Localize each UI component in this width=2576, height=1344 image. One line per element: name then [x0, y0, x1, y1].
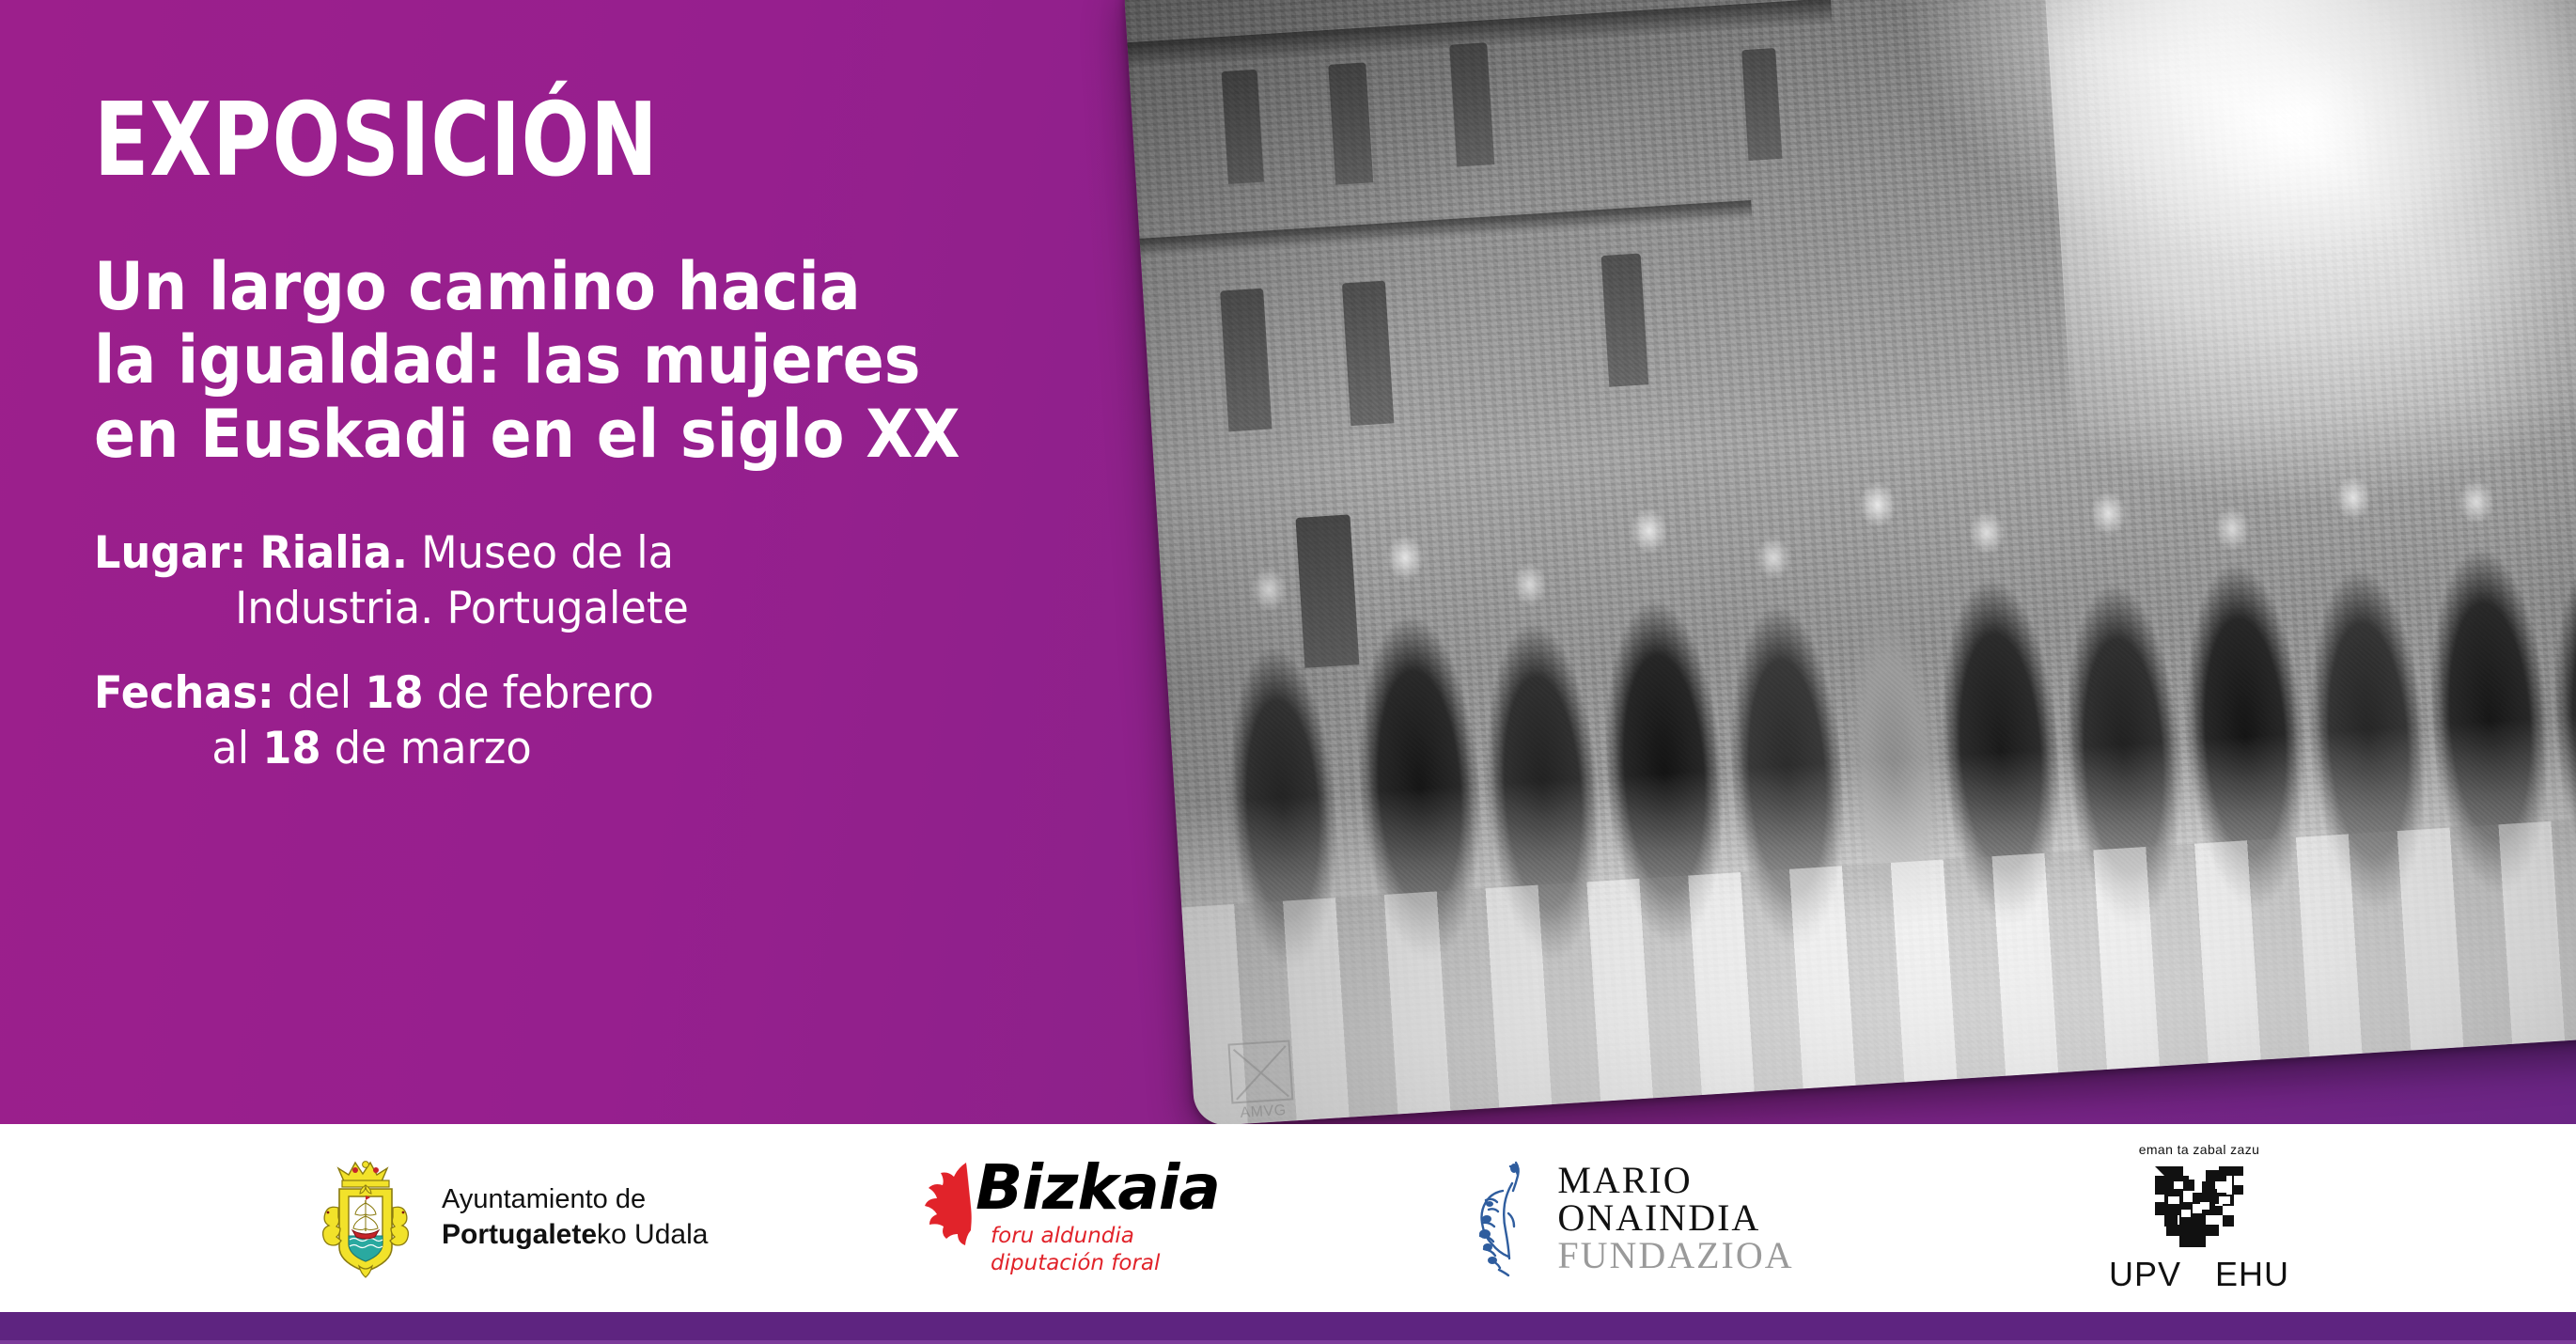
logo-upv-ehu[interactable]: eman ta zabal zazu	[1917, 1142, 2481, 1294]
logo-row: Ayuntamiento de Portugaleteko Udala Bizk…	[0, 1124, 2576, 1312]
exhibition-poster: AMVG ΕXPOSICIÓN Un largo camino hacia la…	[0, 0, 2576, 1344]
bottom-accent-edge	[0, 1340, 2576, 1344]
bizkaia-sub-eu: foru aldundia	[991, 1223, 1220, 1250]
subtitle-line-2: la igualdad: las mujeres	[94, 323, 1064, 397]
sponsor-footer: Ayuntamiento de Portugaleteko Udala Bizk…	[0, 1124, 2576, 1312]
ayuntamiento-line-1: Ayuntamiento de	[442, 1183, 708, 1217]
venue-name: Rialia.	[259, 527, 408, 579]
photo-watermark: AMVG	[1227, 1040, 1293, 1104]
bizkaia-subtitle: foru aldundia diputación foral	[991, 1223, 1220, 1277]
dates-label: Fechas:	[94, 667, 274, 719]
portugalete-crest-icon	[310, 1157, 421, 1279]
venue-rest: Museo de la	[408, 527, 674, 579]
dates-month-start: de febrero	[424, 667, 654, 719]
mario-line-2: ONAINDIA	[1557, 1199, 1793, 1237]
exhibition-subtitle: Un largo camino hacia la igualdad: las m…	[94, 250, 1064, 471]
subtitle-line-1: Un largo camino hacia	[94, 250, 1064, 323]
ayuntamiento-line-2: Portugaleteko Udala	[442, 1217, 708, 1252]
subtitle-line-3: en Εuskadi en el siglo XX	[94, 398, 1064, 471]
photo-image	[1123, 0, 2576, 1124]
venue-block: Lugar: Rialia. Museo de la Industria. Po…	[94, 525, 1137, 636]
dates-line-2: al 18 de marzo	[94, 721, 1085, 776]
bizkaia-sub-es: diputación foral	[991, 1250, 1220, 1277]
dates-month-end: de marzo	[321, 723, 532, 774]
dates-line2-prefix: al	[211, 723, 262, 774]
upv-label: UPV	[2109, 1255, 2181, 1294]
hero-background: AMVG ΕXPOSICIÓN Un largo camino hacia la…	[0, 0, 2576, 1124]
text-column: ΕXPOSICIÓN Un largo camino hacia la igua…	[0, 0, 1137, 1124]
upv-ehu-emblem-icon	[2147, 1161, 2251, 1247]
ayuntamiento-wordmark: Ayuntamiento de Portugaleteko Udala	[442, 1183, 708, 1252]
historic-photo: AMVG	[1123, 0, 2576, 1124]
ayuntamiento-bold: Portugalete	[442, 1219, 597, 1250]
page-title: ΕXPOSICIÓN	[94, 90, 1012, 192]
dates-day-end: 18	[262, 723, 320, 774]
dates-prefix: del	[274, 667, 366, 719]
upv-ehu-wordmark: UPV EHU	[2109, 1255, 2289, 1294]
dates-block: Fechas: del 18 de febrero al 18 de marzo	[94, 665, 1137, 776]
mario-line-1: MARIO	[1557, 1162, 1793, 1199]
bottom-accent-bar	[0, 1312, 2576, 1344]
ayuntamiento-rest: ko Udala	[597, 1219, 708, 1250]
bizkaia-wordmark: Bizkaia	[976, 1159, 1220, 1218]
dates-day-start: 18	[365, 667, 423, 719]
photo-vignette	[1123, 0, 2576, 1124]
logo-ayuntamiento-portugalete[interactable]: Ayuntamiento de Portugaleteko Udala	[0, 1157, 808, 1279]
ehu-label: EHU	[2215, 1255, 2289, 1294]
mario-line-3: FUNDAZIOA	[1557, 1237, 1793, 1274]
venue-label: Lugar:	[94, 527, 246, 579]
upv-motto: eman ta zabal zazu	[2139, 1142, 2260, 1157]
bizkaia-oak-leaf-icon	[923, 1161, 981, 1255]
dates-line-1: Fechas: del 18 de febrero	[94, 665, 1085, 721]
mario-onaindia-portrait-icon	[1458, 1157, 1544, 1279]
venue-line-1: Lugar: Rialia. Museo de la	[94, 525, 1085, 581]
venue-line-2: Industria. Portugalete	[94, 581, 1085, 636]
logo-mario-onaindia[interactable]: MARIO ONAINDIA FUNDAZIOA	[1335, 1157, 1917, 1279]
logo-bizkaia[interactable]: Bizkaia foru aldundia diputación foral	[808, 1159, 1335, 1276]
